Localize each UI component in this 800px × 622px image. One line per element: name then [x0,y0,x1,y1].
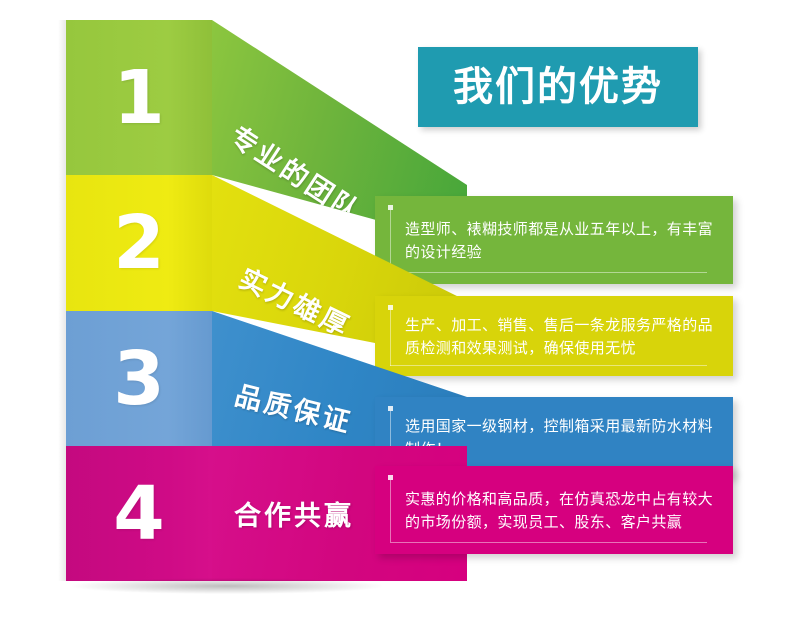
number-block-3: 3 [66,311,212,446]
ribbon-label-4: 合作共赢 [234,494,354,533]
number-block-2: 2 [66,175,212,311]
number-block-1: 1 [66,20,212,175]
infographic-canvas: 我们的优势 1 专业的团队 造型师、裱糊技师都是从业五年以上，有丰富的设计经验 … [0,0,800,622]
advantage-row-2: 2 实力雄厚 生产、加工、销售、售后一条龙服务严格的品质检测和效果测试，确保使用… [0,175,800,311]
advantage-row-4: 4 合作共赢 实惠的价格和高品质，在仿真恐龙中占有较大的市场份额，实现员工、股东… [0,446,800,581]
base-drop-shadow [72,578,382,594]
panel-text-4: 实惠的价格和高品质，在仿真恐龙中占有较大的市场份额，实现员工、股东、客户共赢 [405,488,715,535]
guide-line-horizontal [390,542,707,543]
number-block-4: 4 [66,446,212,581]
content-panel-4: 实惠的价格和高品质，在仿真恐龙中占有较大的市场份额，实现员工、股东、客户共赢 [375,466,733,554]
guide-line-vertical [390,480,391,542]
ribbon-label-3: 品质保证 [231,374,357,441]
number-label-2: 2 [113,206,165,280]
number-label-4: 4 [113,477,165,551]
number-label-1: 1 [113,61,165,135]
advantage-row-3: 3 品质保证 选用国家一级钢材，控制箱采用最新防水材料制作！ [0,311,800,446]
advantage-row-1: 1 专业的团队 造型师、裱糊技师都是从业五年以上，有丰富的设计经验 [0,20,800,175]
number-label-3: 3 [113,342,165,416]
